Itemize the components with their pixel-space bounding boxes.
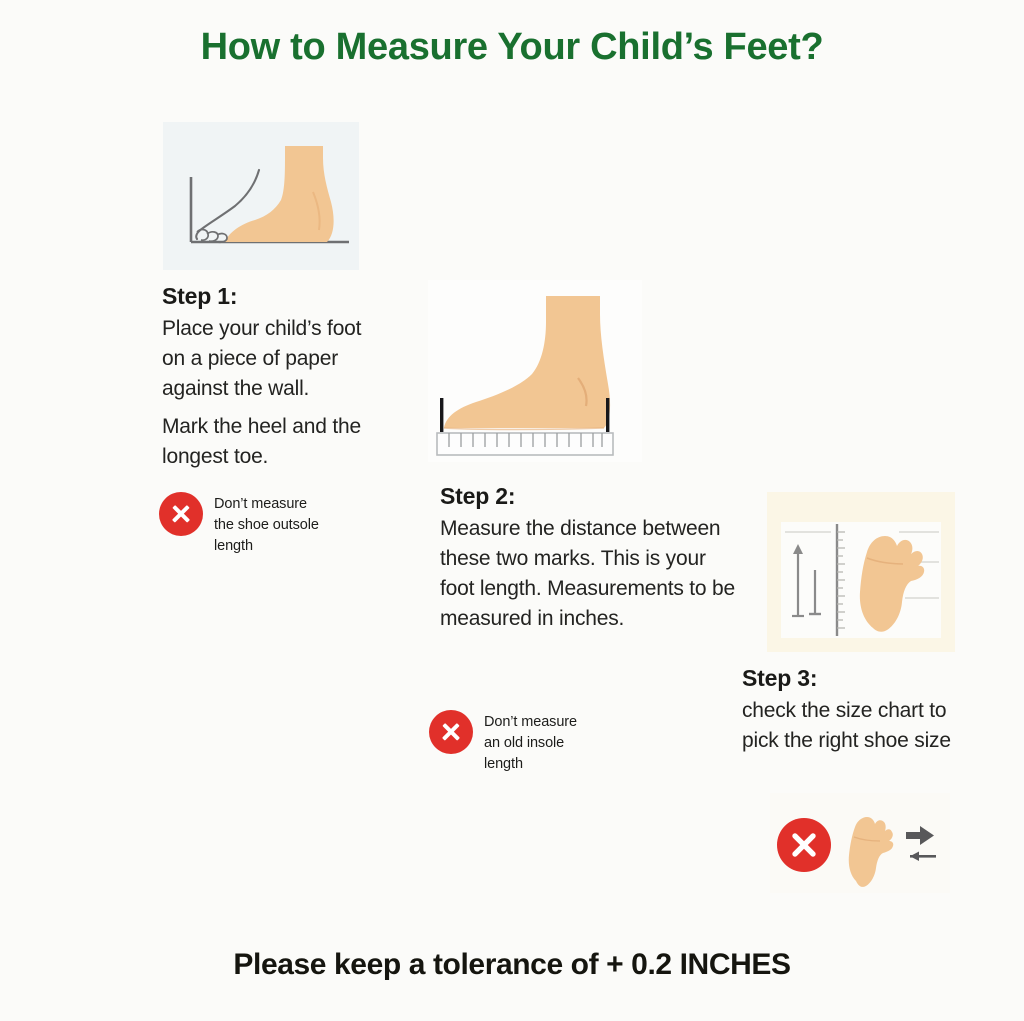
step-3-warning xyxy=(770,793,950,893)
step-1-paragraph-1: Place your child’s foot on a piece of pa… xyxy=(162,314,377,404)
step-2-warning: Don’t measure an old insole length xyxy=(429,710,649,775)
foot-sole-with-arrows-illustration xyxy=(770,793,950,893)
warning-line: Don’t measure xyxy=(214,494,319,515)
step-1-heading: Step 1: xyxy=(162,283,377,310)
step-3-body: check the size chart to pick the right s… xyxy=(742,696,972,756)
step-3-heading: Step 3: xyxy=(742,665,972,692)
step-3-paragraph-1: check the size chart to pick the right s… xyxy=(742,696,972,756)
page-title: How to Measure Your Child’s Feet? xyxy=(0,26,1024,69)
warning-line: an old insole xyxy=(484,733,577,754)
step-2-heading: Step 2: xyxy=(440,483,740,510)
step-1-text-block: Step 1: Place your child’s foot on a pie… xyxy=(162,283,377,472)
step-1-body: Place your child’s foot on a piece of pa… xyxy=(162,314,377,472)
warning-line: length xyxy=(484,754,577,775)
warning-line: Don’t measure xyxy=(484,712,577,733)
step-2-warning-text: Don’t measure an old insole length xyxy=(484,710,577,775)
step-2-paragraph-1: Measure the distance between these two m… xyxy=(440,514,740,634)
red-x-circle-icon xyxy=(159,492,203,536)
arrow-right-icon xyxy=(906,826,934,845)
infographic-page: How to Measure Your Child’s Feet? Step 1… xyxy=(0,0,1024,1021)
red-x-circle-icon xyxy=(429,710,473,754)
step-1-warning: Don’t measure the shoe outsole length xyxy=(159,492,359,557)
step-2-body: Measure the distance between these two m… xyxy=(440,514,740,634)
tolerance-note: Please keep a tolerance of + 0.2 INCHES xyxy=(0,948,1024,982)
step-3-illustration xyxy=(767,492,955,652)
foot-side-against-wall-illustration xyxy=(163,122,359,270)
foot-on-ruler-illustration xyxy=(428,280,642,462)
step-1-paragraph-2: Mark the heel and the longest toe. xyxy=(162,412,377,472)
step-3-text-block: Step 3: check the size chart to pick the… xyxy=(742,665,972,756)
warning-line: length xyxy=(214,536,319,557)
step-2-text-block: Step 2: Measure the distance between the… xyxy=(440,483,740,634)
step-1-illustration xyxy=(163,122,359,270)
step-2-illustration xyxy=(428,280,642,462)
step-1-warning-text: Don’t measure the shoe outsole length xyxy=(214,492,319,557)
foot-sole-on-size-chart-illustration xyxy=(767,492,955,652)
warning-line: the shoe outsole xyxy=(214,515,319,536)
arrow-left-icon xyxy=(910,852,936,862)
